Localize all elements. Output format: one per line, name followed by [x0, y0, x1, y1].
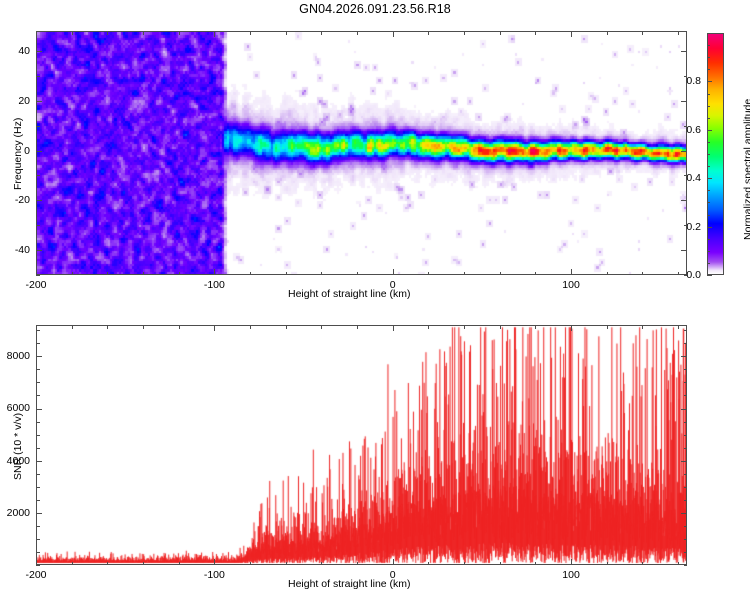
major-tick — [36, 151, 42, 152]
minor-tick — [357, 272, 358, 276]
minor-tick — [36, 526, 40, 527]
minor-tick — [607, 562, 608, 566]
snr-axes — [36, 325, 687, 565]
spectrogram-canvas — [37, 32, 686, 274]
major-tick — [681, 151, 687, 152]
axis-tick-label: 100 — [562, 569, 580, 581]
minor-tick — [36, 500, 40, 501]
minor-tick — [464, 325, 465, 329]
minor-tick — [607, 31, 608, 35]
minor-tick — [36, 382, 40, 383]
colorbar-minor-tick — [707, 142, 710, 143]
major-tick — [393, 269, 394, 275]
axis-tick-label: 2000 — [7, 507, 30, 519]
minor-tick — [684, 330, 688, 331]
minor-tick — [143, 31, 144, 35]
minor-tick — [535, 272, 536, 276]
minor-tick — [72, 31, 73, 35]
minor-tick — [36, 474, 40, 475]
minor-tick — [143, 562, 144, 566]
minor-tick — [36, 175, 40, 176]
snr-canvas — [37, 326, 686, 564]
axis-tick-label: -100 — [204, 279, 225, 291]
minor-tick — [36, 225, 40, 226]
colorbar-tick — [707, 130, 712, 131]
colorbar-minor-tick — [707, 154, 710, 155]
minor-tick — [179, 31, 180, 35]
minor-tick — [286, 325, 287, 329]
major-tick — [36, 101, 42, 102]
minor-tick — [684, 448, 688, 449]
minor-tick — [642, 325, 643, 329]
colorbar-title: Normalized spectral amplitude — [742, 99, 750, 240]
major-tick — [214, 269, 215, 275]
minor-tick — [678, 31, 679, 35]
minor-tick — [36, 395, 40, 396]
major-tick — [681, 356, 687, 357]
minor-tick — [357, 562, 358, 566]
colorbar-tick-label: 0.6 — [686, 124, 701, 136]
minor-tick — [357, 31, 358, 35]
minor-tick — [250, 562, 251, 566]
figure-title: GN04.2026.091.23.56.R18 — [0, 2, 750, 16]
colorbar-tick — [707, 275, 712, 276]
axis-tick-label: -200 — [25, 279, 46, 291]
minor-tick — [107, 272, 108, 276]
colorbar-minor-tick — [707, 69, 710, 70]
major-tick — [681, 250, 687, 251]
minor-tick — [535, 325, 536, 329]
minor-tick — [500, 272, 501, 276]
major-tick — [681, 461, 687, 462]
axis-tick-label: 0 — [24, 145, 30, 157]
colorbar-minor-tick — [707, 190, 710, 191]
snr-xlabel: Height of straight line (km) — [288, 578, 411, 590]
minor-tick — [428, 562, 429, 566]
minor-tick — [684, 435, 688, 436]
colorbar-minor-tick — [707, 215, 710, 216]
minor-tick — [684, 552, 688, 553]
minor-tick — [642, 272, 643, 276]
colorbar-minor-tick — [707, 45, 710, 46]
minor-tick — [678, 562, 679, 566]
axis-tick-label: -200 — [25, 569, 46, 581]
minor-tick — [36, 448, 40, 449]
minor-tick — [286, 562, 287, 566]
minor-tick — [107, 325, 108, 329]
minor-tick — [321, 272, 322, 276]
minor-tick — [179, 562, 180, 566]
major-tick — [36, 356, 42, 357]
major-tick — [36, 51, 42, 52]
minor-tick — [36, 126, 40, 127]
colorbar-minor-tick — [707, 251, 710, 252]
minor-tick — [321, 325, 322, 329]
minor-tick — [36, 275, 40, 276]
minor-tick — [428, 272, 429, 276]
minor-tick — [428, 325, 429, 329]
minor-tick — [36, 422, 40, 423]
minor-tick — [36, 565, 40, 566]
minor-tick — [36, 487, 40, 488]
minor-tick — [72, 272, 73, 276]
minor-tick — [684, 343, 688, 344]
major-tick — [571, 269, 572, 275]
minor-tick — [36, 435, 40, 436]
minor-tick — [428, 31, 429, 35]
major-tick — [214, 559, 215, 565]
major-tick — [36, 513, 42, 514]
minor-tick — [107, 31, 108, 35]
axis-tick-label: 100 — [562, 279, 580, 291]
colorbar-minor-tick — [707, 239, 710, 240]
minor-tick — [684, 565, 688, 566]
axis-tick-label: -20 — [15, 194, 30, 206]
axis-tick-label: 8000 — [7, 350, 30, 362]
snr-ylabel: SNR (10 * v/v) — [12, 413, 24, 480]
minor-tick — [684, 395, 688, 396]
spectrogram-xlabel: Height of straight line (km) — [288, 288, 411, 300]
minor-tick — [642, 562, 643, 566]
minor-tick — [500, 31, 501, 35]
minor-tick — [464, 31, 465, 35]
axis-tick-label: 40 — [18, 45, 30, 57]
minor-tick — [286, 31, 287, 35]
minor-tick — [72, 325, 73, 329]
minor-tick — [684, 422, 688, 423]
minor-tick — [684, 539, 688, 540]
major-tick — [214, 325, 215, 331]
major-tick — [36, 461, 42, 462]
major-tick — [393, 559, 394, 565]
minor-tick — [500, 562, 501, 566]
minor-tick — [321, 31, 322, 35]
colorbar-tick-label: 0.0 — [686, 269, 701, 281]
colorbar-minor-tick — [707, 106, 710, 107]
axis-tick-label: -40 — [15, 244, 30, 256]
major-tick — [393, 31, 394, 37]
minor-tick — [321, 562, 322, 566]
minor-tick — [36, 539, 40, 540]
spectrogram-ylabel: Frequency (Hz) — [12, 118, 24, 190]
colorbar-tick — [707, 227, 712, 228]
major-tick — [571, 31, 572, 37]
colorbar-tick-label: 0.4 — [686, 172, 701, 184]
minor-tick — [642, 31, 643, 35]
minor-tick — [357, 325, 358, 329]
major-tick — [393, 325, 394, 331]
minor-tick — [535, 31, 536, 35]
major-tick — [681, 513, 687, 514]
minor-tick — [179, 272, 180, 276]
minor-tick — [684, 487, 688, 488]
minor-tick — [72, 562, 73, 566]
minor-tick — [36, 330, 40, 331]
minor-tick — [107, 562, 108, 566]
axis-tick-label: 20 — [18, 95, 30, 107]
minor-tick — [535, 562, 536, 566]
major-tick — [681, 200, 687, 201]
minor-tick — [36, 369, 40, 370]
minor-tick — [607, 325, 608, 329]
minor-tick — [250, 31, 251, 35]
minor-tick — [143, 272, 144, 276]
minor-tick — [464, 562, 465, 566]
minor-tick — [286, 272, 287, 276]
minor-tick — [684, 474, 688, 475]
minor-tick — [684, 382, 688, 383]
minor-tick — [464, 272, 465, 276]
major-tick — [681, 51, 687, 52]
minor-tick — [678, 272, 679, 276]
colorbar-minor-tick — [707, 118, 710, 119]
major-tick — [571, 559, 572, 565]
colorbar-tick-label: 0.8 — [686, 75, 701, 87]
colorbar-minor-tick — [707, 57, 710, 58]
major-tick — [681, 409, 687, 410]
major-tick — [36, 31, 37, 37]
colorbar-minor-tick — [707, 202, 710, 203]
colorbar-minor-tick — [707, 94, 710, 95]
minor-tick — [36, 552, 40, 553]
minor-tick — [684, 369, 688, 370]
colorbar-minor-tick — [707, 166, 710, 167]
major-tick — [36, 200, 42, 201]
major-tick — [36, 250, 42, 251]
minor-tick — [179, 325, 180, 329]
colorbar-tick-label: 0.2 — [686, 221, 701, 233]
minor-tick — [250, 272, 251, 276]
colorbar-minor-tick — [707, 263, 710, 264]
minor-tick — [36, 76, 40, 77]
minor-tick — [250, 325, 251, 329]
axis-tick-label: -100 — [204, 569, 225, 581]
major-tick — [214, 31, 215, 37]
minor-tick — [500, 325, 501, 329]
major-tick — [571, 325, 572, 331]
figure-root: GN04.2026.091.23.56.R18 -200-1000100-40-… — [0, 0, 750, 600]
minor-tick — [143, 325, 144, 329]
minor-tick — [684, 500, 688, 501]
minor-tick — [678, 325, 679, 329]
major-tick — [681, 101, 687, 102]
major-tick — [36, 409, 42, 410]
colorbar-minor-tick — [707, 178, 710, 179]
minor-tick — [36, 343, 40, 344]
minor-tick — [684, 526, 688, 527]
spectrogram-axes — [36, 31, 687, 275]
colorbar-tick — [707, 81, 712, 82]
minor-tick — [607, 272, 608, 276]
